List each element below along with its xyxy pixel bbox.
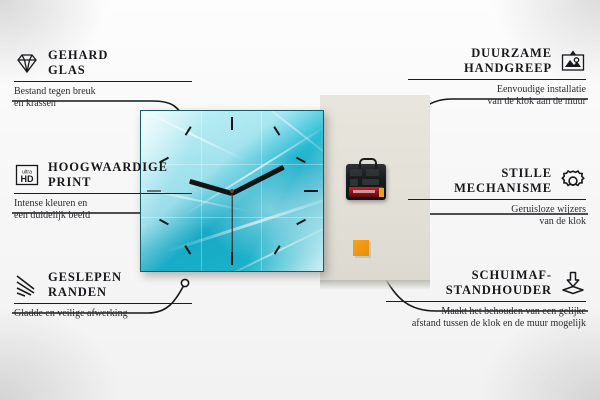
- feature-stille-mechanisme[interactable]: STILLEMECHANISME Geruisloze wijzers van …: [408, 166, 586, 228]
- feature-duurzame-handgreep[interactable]: DUURZAMEHANDGREEP Eenvoudige installatie…: [408, 46, 586, 108]
- divider: [408, 199, 586, 200]
- feature-description: Intense kleuren en een duidelijk beeld: [14, 198, 192, 222]
- feature-description: Bestand tegen breuk en krassen: [14, 86, 192, 110]
- clock-second-hand: [231, 193, 232, 253]
- divider: [386, 301, 586, 302]
- feature-description: Gladde en veilige afwerking: [14, 308, 192, 320]
- feature-title: DUURZAMEHANDGREEP: [464, 46, 552, 76]
- diamond-icon: [14, 50, 40, 76]
- divider: [14, 303, 192, 304]
- feature-description: Eenvoudige installatie van de klok aan d…: [408, 84, 586, 108]
- feature-title: STILLEMECHANISME: [454, 166, 552, 196]
- feature-title: GEHARDGLAS: [48, 48, 108, 78]
- divider: [408, 79, 586, 80]
- feature-geslepen-randen[interactable]: GESLEPENRANDEN Gladde en veilige afwerki…: [14, 270, 192, 320]
- feature-title: SCHUIMAF-STANDHOUDER: [446, 268, 552, 298]
- feature-title: GESLEPENRANDEN: [48, 270, 122, 300]
- feature-hoogwaardige-print[interactable]: ultra HD HOOGWAARDIGEPRINT Intense kleur…: [14, 160, 192, 222]
- feature-title: HOOGWAARDIGEPRINT: [48, 160, 168, 190]
- ultra-hd-icon: ultra HD: [14, 162, 40, 188]
- divider: [14, 193, 192, 194]
- spacer-arrow-icon: [560, 270, 586, 296]
- feature-description: Maakt het behouden van een gelijke afsta…: [386, 306, 586, 330]
- divider: [14, 81, 192, 82]
- infographic-canvas: GEHARDGLAS Bestand tegen breuk en krasse…: [0, 0, 600, 400]
- picture-frame-icon: [560, 48, 586, 74]
- clock-battery: [349, 187, 383, 197]
- feature-schuimafstandhouder[interactable]: SCHUIMAF-STANDHOUDER Maakt het behouden …: [386, 268, 586, 330]
- diagonal-lines-icon: [14, 272, 40, 298]
- feature-gehard-glas[interactable]: GEHARDGLAS Bestand tegen breuk en krasse…: [14, 48, 192, 110]
- foam-spacer: [353, 240, 369, 256]
- clock-movement: [346, 164, 386, 200]
- svg-text:HD: HD: [21, 174, 34, 184]
- feature-description: Geruisloze wijzers van de klok: [408, 204, 586, 228]
- gear-icon: [560, 168, 586, 194]
